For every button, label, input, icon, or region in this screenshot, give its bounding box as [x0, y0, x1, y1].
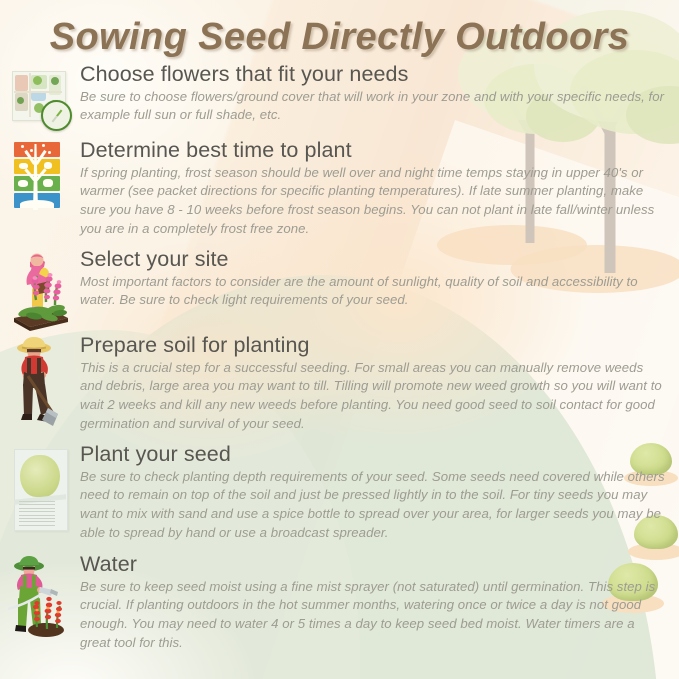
gardener-with-shovel-icon [0, 334, 70, 430]
step-description: This is a crucial step for a successful … [80, 359, 665, 434]
step-description: Be sure to choose flowers/ground cover t… [80, 88, 665, 125]
seed-pile [20, 455, 60, 497]
compass-icon [41, 100, 72, 131]
season-band-autumn [14, 142, 60, 157]
step-body: Water Be sure to keep seed moist using a… [80, 553, 679, 653]
step-body: Prepare soil for planting This is a cruc… [80, 334, 679, 434]
garden-plan-compass-icon [0, 63, 70, 127]
seed-packet-icon [0, 443, 70, 533]
step-item: Prepare soil for planting This is a cruc… [0, 334, 679, 434]
step-body: Choose flowers that fit your needs Be su… [80, 63, 679, 125]
step-heading: Choose flowers that fit your needs [80, 63, 665, 87]
step-item: Water Be sure to keep seed moist using a… [0, 553, 679, 653]
gardener-watering-icon [0, 553, 70, 645]
gardener-planting-flowers-icon [0, 248, 70, 334]
gardener-watering-illustration [4, 553, 74, 645]
step-heading: Plant your seed [80, 443, 665, 467]
step-item: Select your site Most important factors … [0, 248, 679, 310]
step-heading: Water [80, 553, 665, 577]
step-body: Select your site Most important factors … [80, 248, 679, 310]
step-item: Plant your seed Be sure to check plantin… [0, 443, 679, 543]
step-description: Be sure to check planting depth requirem… [80, 468, 665, 543]
step-description: If spring planting, frost season should … [80, 164, 665, 239]
packet-text-lines [19, 501, 55, 525]
gardener-with-shovel-illustration [6, 334, 72, 430]
step-heading: Determine best time to plant [80, 139, 665, 163]
step-item: Determine best time to plant If spring p… [0, 139, 679, 239]
four-seasons-icon [0, 139, 70, 209]
step-body: Determine best time to plant If spring p… [80, 139, 679, 239]
step-heading: Prepare soil for planting [80, 334, 665, 358]
step-description: Most important factors to consider are t… [80, 273, 665, 310]
step-description: Be sure to keep seed moist using a fine … [80, 578, 665, 653]
gardener-planting-flowers-illustration [6, 248, 72, 334]
page-title: Sowing Seed Directly Outdoors [0, 16, 679, 59]
infographic-poster: Sowing Seed Directly Outdoors [0, 0, 679, 679]
step-heading: Select your site [80, 248, 665, 272]
step-item: Choose flowers that fit your needs Be su… [0, 63, 679, 125]
step-body: Plant your seed Be sure to check plantin… [80, 443, 679, 543]
